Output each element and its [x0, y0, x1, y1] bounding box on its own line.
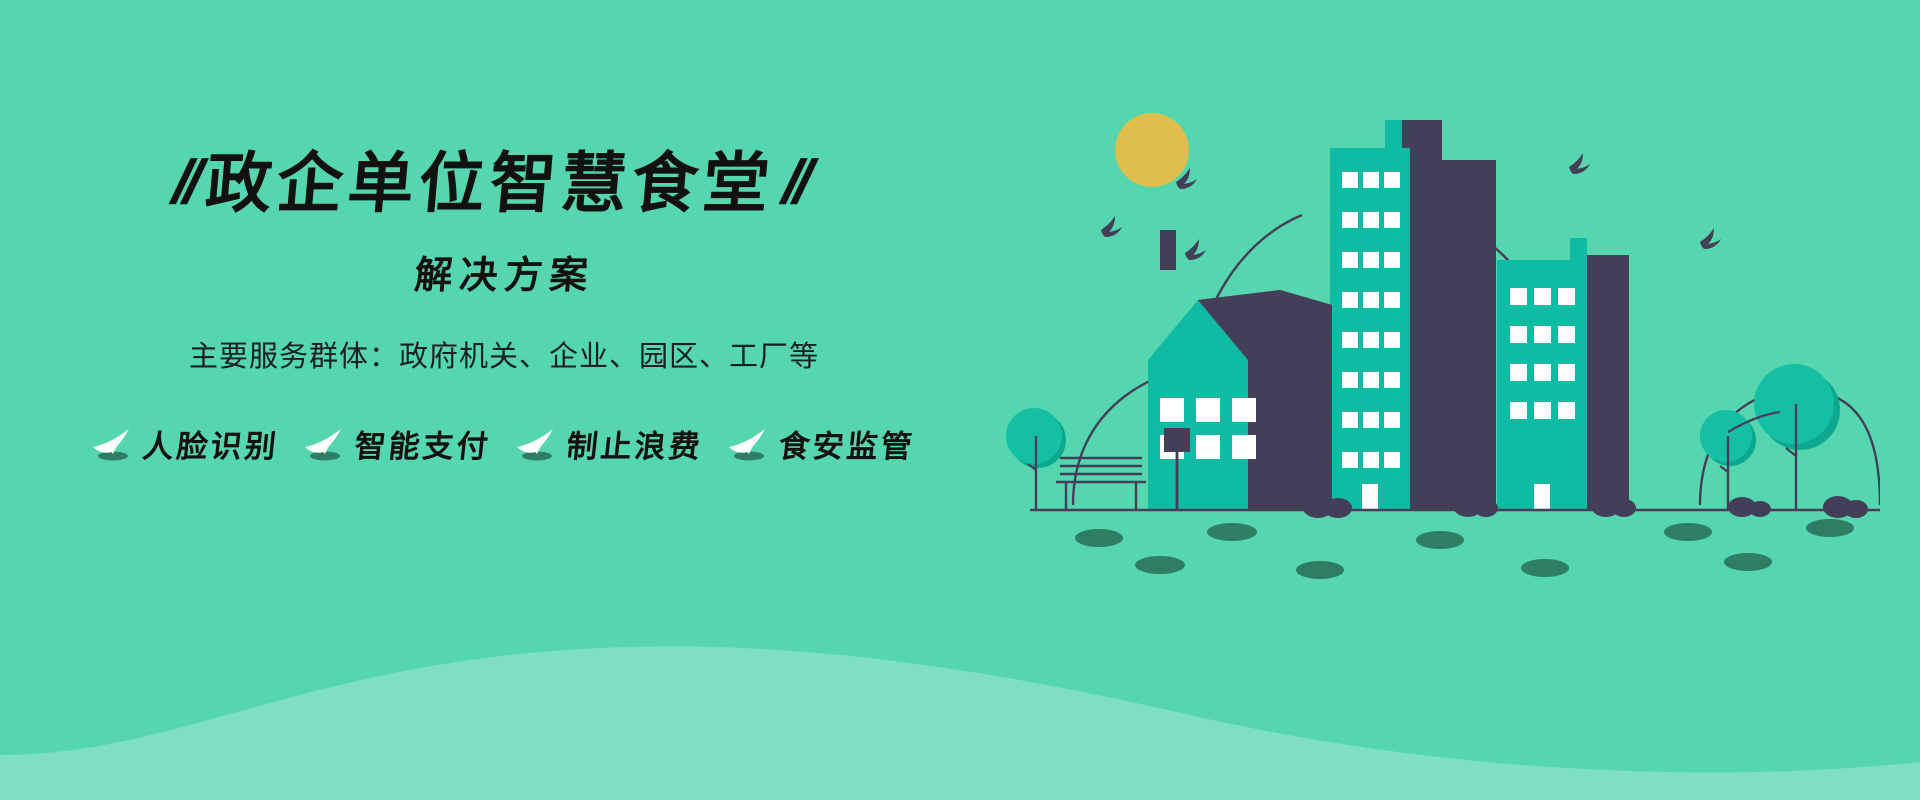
building-dark-right	[1587, 255, 1629, 510]
bird-icon	[725, 427, 773, 461]
slash-right-decoration: //	[775, 152, 815, 214]
bird-icon-6	[1700, 228, 1721, 249]
feature-tag: 食安监管	[725, 421, 915, 466]
bird-icon	[301, 427, 349, 461]
promo-banner: // 政企单位智慧食堂 // 解决方案 主要服务群体：政府机关、企业、园区、工厂…	[0, 0, 1920, 800]
ground-ellipses	[1075, 519, 1854, 579]
park-bench	[1056, 458, 1146, 510]
page-subtitle: 解决方案	[8, 244, 1003, 299]
bird-icon-4	[1569, 153, 1590, 174]
feature-tag: 制止浪费	[513, 421, 703, 466]
service-audience-line: 主要服务群体：政府机关、企业、园区、工厂等	[8, 333, 1000, 375]
tree-right-small	[1700, 410, 1756, 510]
bird-icon-1	[1101, 216, 1122, 237]
sun-icon	[1115, 113, 1189, 187]
building-tall-teal-cap	[1385, 120, 1402, 150]
feature-tag-label: 食安监管	[777, 421, 918, 466]
feature-tag-label: 智能支付	[353, 421, 494, 466]
city-skyline-illustration	[1000, 60, 1880, 620]
bird-icon	[513, 427, 561, 461]
feature-tag: 人脸识别	[89, 421, 279, 466]
feature-tag-label: 人脸识别	[141, 421, 282, 466]
house-chimney	[1160, 230, 1176, 270]
tree-right-large	[1754, 364, 1840, 510]
feature-tag: 智能支付	[301, 421, 491, 466]
text-block: // 政企单位智慧食堂 // 解决方案 主要服务群体：政府机关、企业、园区、工厂…	[0, 150, 1000, 466]
feature-tag-label: 制止浪费	[565, 421, 706, 466]
tree-left	[1006, 408, 1066, 510]
building-short-teal-cap	[1570, 238, 1587, 262]
wave-path	[0, 646, 1920, 800]
building-dark-mid	[1442, 160, 1496, 510]
headline-row: // 政企单位智慧食堂 //	[0, 150, 1000, 216]
bird-icon-3	[1185, 239, 1206, 260]
slash-left-decoration: //	[165, 152, 205, 214]
bird-icon	[89, 427, 137, 461]
page-title: 政企单位智慧食堂	[203, 150, 777, 216]
short-building-door	[1534, 484, 1550, 510]
tall-building-door	[1362, 484, 1378, 510]
feature-tags-row: 人脸识别 智能支付 制止浪费	[4, 421, 1000, 466]
